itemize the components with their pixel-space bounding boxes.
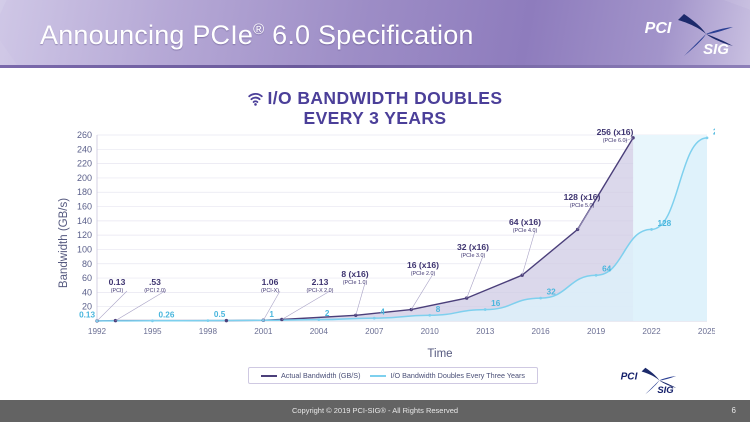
- x-tick-label: 1995: [143, 327, 162, 336]
- x-axis-title: Time: [427, 348, 452, 360]
- x-tick-label: 2010: [421, 327, 440, 336]
- footer-logo-text-sig: SIG: [657, 385, 674, 396]
- page-title: Announcing PCIe® 6.0 Specification: [40, 20, 474, 51]
- x-tick-label: 2022: [642, 327, 661, 336]
- chart-title-line-1: 11I/O BANDWIDTH DOUBLES: [0, 88, 750, 108]
- x-tick-label: 2001: [254, 327, 273, 336]
- y-axis-ticks: 20406080100120140160180200220240260: [77, 130, 92, 312]
- pci-sig-logo-header: PCI SIG: [632, 8, 738, 62]
- y-tick-label: 80: [82, 259, 92, 269]
- registered-mark: ®: [253, 21, 264, 38]
- x-tick-label: 1998: [199, 327, 218, 336]
- doubling-series-point[interactable]: [650, 228, 653, 231]
- logo-text-sig: SIG: [703, 41, 729, 58]
- doubling-series-data-label: 32: [547, 288, 557, 297]
- chart-legend[interactable]: Actual Bandwidth (GB/S) I/O Bandwidth Do…: [248, 367, 538, 384]
- doubling-series-data-label: 8: [436, 305, 441, 314]
- y-axis-title: Bandwidth (GB/s): [58, 198, 70, 288]
- y-tick-label: 140: [77, 216, 92, 226]
- legend-label-actual: Actual Bandwidth (GB/S): [281, 371, 361, 380]
- callout-leader: [356, 283, 365, 315]
- callout-value: 1.06: [262, 277, 279, 287]
- series-areas: [97, 138, 707, 321]
- chart-title: 11I/O BANDWIDTH DOUBLES EVERY 3 YEARS: [0, 88, 750, 128]
- callout-value: 128 (x16): [564, 192, 601, 202]
- callout-spec: (PCIe 5.0): [570, 203, 595, 209]
- y-tick-label: 180: [77, 187, 92, 197]
- doubling-series-data-label: 0.26: [158, 310, 174, 319]
- actual-series-point[interactable]: [354, 314, 357, 317]
- callout-value: 256 (x16): [597, 127, 634, 137]
- doubling-series-point[interactable]: [595, 274, 598, 277]
- callout-spec: (PCI-X): [261, 288, 279, 294]
- x-tick-label: 2025: [698, 327, 715, 336]
- bandwidth-chart: 20406080100120140160180200220240260 0.13…: [55, 125, 715, 365]
- callout-value: 16 (x16): [407, 260, 439, 270]
- doubling-series-data-label: 0.5: [214, 310, 226, 319]
- x-tick-label: 2019: [587, 327, 606, 336]
- actual-series-point[interactable]: [520, 274, 523, 277]
- callout-value: 32 (x16): [457, 242, 489, 252]
- doubling-series-data-label: 0.13: [79, 310, 95, 319]
- doubling-series-point[interactable]: [262, 319, 265, 322]
- callout-spec: (PCIe 6.0): [603, 138, 628, 144]
- callout-leader: [282, 291, 330, 319]
- wifi-icon: [248, 92, 263, 106]
- slide-footer: Copyright © 2019 PCI-SIG® - All Rights R…: [0, 400, 750, 422]
- y-tick-label: 100: [77, 244, 92, 254]
- callout-value: 2.13: [312, 277, 329, 287]
- x-axis-ticks: 1992199519982001200420072010201320162019…: [88, 327, 715, 336]
- doubling-series-point[interactable]: [373, 317, 376, 320]
- page-title-suffix: 6.0 Specification: [264, 20, 473, 50]
- doubling-series-data-label: 128: [658, 219, 672, 228]
- y-tick-label: 60: [82, 273, 92, 283]
- callout-value: .53: [149, 277, 161, 287]
- callout-spec: (PCIe 1.0): [343, 280, 368, 286]
- copyright-text: Copyright © 2019 PCI-SIG® - All Rights R…: [0, 400, 750, 422]
- pci-sig-logo-footer: PCI SIG: [612, 364, 680, 398]
- y-tick-label: 160: [77, 202, 92, 212]
- legend-label-doubling: I/O Bandwidth Doubles Every Three Years: [390, 371, 525, 380]
- page-number: 6: [732, 400, 736, 422]
- callout-spec: (PCI 2.0): [144, 288, 166, 294]
- callout-value: 8 (x16): [341, 269, 368, 279]
- x-tick-label: 1992: [88, 327, 107, 336]
- callout-leader: [411, 274, 433, 310]
- doubling-series-data-label: 256: [713, 127, 715, 136]
- callout-spec: (PCI-X 2.0): [307, 288, 334, 294]
- doubling-series-data-label: 4: [380, 308, 385, 317]
- y-tick-label: 200: [77, 173, 92, 183]
- y-tick-label: 240: [77, 144, 92, 154]
- callout-value: 64 (x16): [509, 217, 541, 227]
- logo-text-pci: PCI: [645, 20, 672, 37]
- y-tick-label: 220: [77, 159, 92, 169]
- doubling-series-point[interactable]: [428, 314, 431, 317]
- slide-header: Announcing PCIe® 6.0 Specification PCI S…: [0, 0, 750, 68]
- legend-entry-doubling[interactable]: I/O Bandwidth Doubles Every Three Years: [370, 371, 525, 380]
- doubling-series-point[interactable]: [151, 319, 154, 322]
- doubling-series-data-label: 64: [602, 265, 612, 274]
- callout-spec: (PCIe 3.0): [461, 253, 486, 259]
- legend-swatch-doubling: [370, 375, 386, 377]
- chart-canvas: 20406080100120140160180200220240260 0.13…: [55, 125, 715, 365]
- legend-entry-actual[interactable]: Actual Bandwidth (GB/S): [261, 371, 361, 380]
- slide: Announcing PCIe® 6.0 Specification PCI S…: [0, 0, 750, 422]
- actual-series-point[interactable]: [225, 319, 228, 322]
- doubling-series-point[interactable]: [207, 319, 210, 322]
- x-tick-label: 2013: [476, 327, 495, 336]
- callout-spec: (PCIe 2.0): [411, 271, 436, 277]
- callout-spec: (PCIe 4.0): [513, 228, 538, 234]
- x-tick-label: 2007: [365, 327, 384, 336]
- callout-spec: (PCI): [111, 288, 124, 294]
- y-tick-label: 40: [82, 287, 92, 297]
- chart-title-label-1: I/O BANDWIDTH DOUBLES: [268, 88, 503, 108]
- doubling-series-data-label: 1: [269, 310, 274, 319]
- y-tick-label: 120: [77, 230, 92, 240]
- x-tick-label: 2016: [532, 327, 551, 336]
- callout-value: 0.13: [109, 277, 126, 287]
- y-tick-label: 260: [77, 130, 92, 140]
- doubling-series-point[interactable]: [706, 136, 709, 139]
- x-tick-label: 2004: [310, 327, 329, 336]
- doubling-series-data-label: 16: [491, 299, 501, 308]
- doubling-series-data-label: 2: [325, 309, 330, 318]
- page-title-prefix: Announcing PCIe: [40, 20, 253, 50]
- legend-swatch-actual: [261, 375, 277, 377]
- doubling-series-point[interactable]: [317, 318, 320, 321]
- doubling-series-point[interactable]: [539, 297, 542, 300]
- doubling-series-point[interactable]: [484, 308, 487, 311]
- footer-logo-text-pci: PCI: [621, 372, 638, 383]
